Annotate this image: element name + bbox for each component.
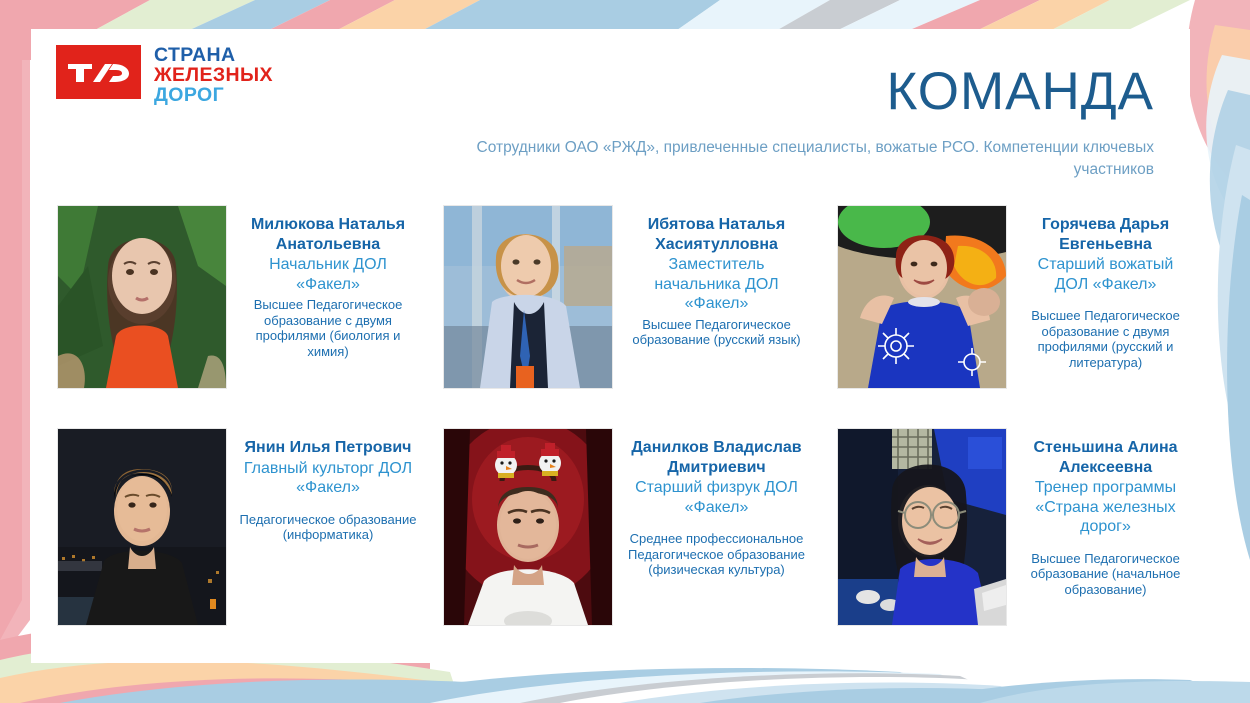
slide-content-card: СТРАНА ЖЕЛЕЗНЫХ ДОРОГ КОМАНДА Сотрудники…: [31, 29, 1190, 663]
member-role: Старший вожатый ДОЛ «Факел»: [1019, 255, 1192, 294]
member-role: Начальник ДОЛ «Факел»: [239, 255, 417, 294]
presentation-slide: СТРАНА ЖЕЛЕЗНЫХ ДОРОГ КОМАНДА Сотрудники…: [0, 0, 1250, 703]
member-info: Милюкова Наталья Анатольевна Начальник Д…: [227, 205, 417, 359]
photo-stenshina: [837, 428, 1007, 626]
member-name: Стеньшина Алина Алексеевна: [1019, 438, 1192, 477]
member-name: Янин Илья Петрович: [239, 438, 417, 458]
team-member-card: Милюкова Наталья Анатольевна Начальник Д…: [57, 205, 417, 389]
member-role: Заместитель начальника ДОЛ «Факел»: [625, 255, 808, 314]
member-info: Данилков Владислав Дмитриевич Старший фи…: [613, 428, 808, 578]
member-role: Главный культорг ДОЛ «Факел»: [239, 459, 417, 498]
team-member-card: Янин Илья Петрович Главный культорг ДОЛ …: [57, 428, 417, 626]
team-member-card: Ибятова Наталья Хасиятулловна Заместител…: [443, 205, 808, 389]
photo-ibyatova: [443, 205, 613, 389]
photo-milyukova: [57, 205, 227, 389]
member-education: Высшее Педагогическое образование (русск…: [625, 317, 808, 348]
member-education: Педагогическое образование (информатика): [239, 512, 417, 543]
member-info: Горячева Дарья Евгеньевна Старший вожаты…: [1007, 205, 1192, 370]
member-name: Милюкова Наталья Анатольевна: [239, 215, 417, 254]
team-member-card: Стеньшина Алина Алексеевна Тренер програ…: [837, 428, 1192, 626]
member-role: Старший физрук ДОЛ «Факел»: [625, 478, 808, 517]
member-education: Высшее Педагогическое образование с двум…: [239, 297, 417, 359]
member-name: Данилков Владислав Дмитриевич: [625, 438, 808, 477]
member-name: Ибятова Наталья Хасиятулловна: [625, 215, 808, 254]
member-info: Ибятова Наталья Хасиятулловна Заместител…: [613, 205, 808, 348]
member-education: Высшее Педагогическое образование с двум…: [1019, 308, 1192, 370]
member-name: Горячева Дарья Евгеньевна: [1019, 215, 1192, 254]
photo-yanin: [57, 428, 227, 626]
member-info: Стеньшина Алина Алексеевна Тренер програ…: [1007, 428, 1192, 597]
photo-goryacheva: [837, 205, 1007, 389]
member-role: Тренер программы «Страна железных дорог»: [1019, 478, 1192, 537]
team-member-card: Горячева Дарья Евгеньевна Старший вожаты…: [837, 205, 1192, 389]
photo-danilkov: [443, 428, 613, 626]
member-info: Янин Илья Петрович Главный культорг ДОЛ …: [227, 428, 417, 543]
team-grid: Милюкова Наталья Анатольевна Начальник Д…: [31, 29, 1190, 663]
member-education: Высшее Педагогическое образование (начал…: [1019, 551, 1192, 598]
member-education: Среднее профессиональное Педагогическое …: [625, 531, 808, 578]
team-member-card: Данилков Владислав Дмитриевич Старший фи…: [443, 428, 808, 626]
